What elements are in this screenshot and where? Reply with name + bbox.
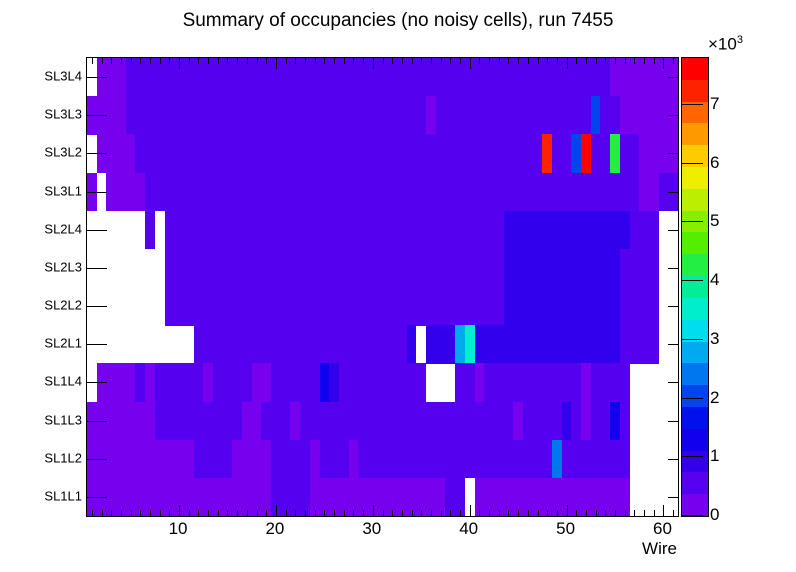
heatmap-cell bbox=[261, 402, 290, 441]
heatmap-cell bbox=[523, 402, 552, 441]
colorbar-ticks bbox=[681, 57, 709, 515]
x-tick-minor bbox=[625, 510, 626, 516]
x-tick-top bbox=[557, 58, 558, 64]
heatmap-cell bbox=[165, 363, 175, 402]
x-tick-minor bbox=[247, 510, 248, 516]
x-tick-top bbox=[654, 58, 655, 64]
heatmap-cell bbox=[223, 173, 233, 212]
x-tick-top bbox=[305, 58, 306, 64]
y-tick bbox=[87, 115, 107, 116]
colorbar-tick-label: 0 bbox=[710, 505, 719, 525]
x-tick-top bbox=[644, 58, 645, 64]
heatmap-cell bbox=[252, 363, 271, 402]
x-tick-top bbox=[102, 58, 103, 64]
x-tick-top bbox=[431, 58, 432, 64]
colorbar-tick bbox=[681, 163, 703, 164]
x-tick-minor bbox=[227, 510, 228, 516]
x-tick-minor bbox=[353, 510, 354, 516]
heatmap-cell bbox=[397, 363, 426, 402]
colorbar-tick bbox=[681, 280, 703, 281]
heatmap-cell bbox=[213, 363, 252, 402]
x-tick-top bbox=[92, 58, 93, 64]
x-tick-minor bbox=[605, 510, 606, 516]
x-tick-top bbox=[470, 58, 471, 69]
heatmap-cell bbox=[426, 325, 436, 364]
heatmap-cell bbox=[552, 402, 562, 441]
heatmap-cell bbox=[620, 402, 630, 441]
x-tick-minor bbox=[344, 510, 345, 516]
x-tick-minor bbox=[508, 510, 509, 516]
x-axis-title: Wire bbox=[642, 539, 677, 559]
y-tick bbox=[87, 77, 107, 78]
y-axis-label-sl1l3: SL1L3 bbox=[44, 412, 82, 427]
heatmap-cell bbox=[165, 249, 368, 288]
heatmap-cell bbox=[562, 440, 591, 479]
x-tick-minor bbox=[237, 510, 238, 516]
colorbar-exponent-base: ×10 bbox=[708, 35, 737, 54]
x-tick-top bbox=[169, 58, 170, 64]
y-axis-label-sl3l1: SL3L1 bbox=[44, 183, 82, 198]
x-tick-top bbox=[150, 58, 151, 64]
heatmap-cell bbox=[571, 134, 581, 173]
x-tick-top bbox=[663, 58, 664, 69]
x-tick-minor bbox=[208, 510, 209, 516]
x-tick-minor bbox=[189, 510, 190, 516]
heatmap-cell bbox=[426, 478, 445, 516]
x-tick-minor bbox=[383, 510, 384, 516]
x-tick-minor bbox=[431, 510, 432, 516]
x-tick-top bbox=[353, 58, 354, 64]
heatmap-cell bbox=[155, 363, 165, 402]
x-tick-minor bbox=[111, 510, 112, 516]
colorbar-tick bbox=[681, 456, 703, 457]
x-tick-minor bbox=[121, 510, 122, 516]
heatmap-cell bbox=[135, 173, 145, 212]
y-axis-label-sl3l3: SL3L3 bbox=[44, 107, 82, 122]
x-tick-top bbox=[131, 58, 132, 64]
x-tick-minor bbox=[538, 510, 539, 516]
colorbar-exponent: ×103 bbox=[708, 34, 743, 55]
x-tick-top bbox=[615, 58, 616, 64]
y-tick bbox=[87, 344, 107, 345]
heatmap-cell bbox=[455, 363, 474, 402]
x-tick-minor bbox=[421, 510, 422, 516]
x-tick-top bbox=[528, 58, 529, 64]
y-axis-label-sl1l1: SL1L1 bbox=[44, 488, 82, 503]
y-tick-right bbox=[668, 344, 678, 345]
heatmap-cell bbox=[106, 173, 135, 212]
x-tick-top bbox=[208, 58, 209, 64]
y-tick bbox=[87, 268, 107, 269]
heatmap-cells bbox=[87, 58, 678, 516]
heatmap-cell bbox=[368, 325, 407, 364]
heatmap-cell bbox=[523, 440, 552, 479]
colorbar-tick bbox=[681, 515, 703, 516]
heatmap-cell bbox=[426, 96, 436, 135]
x-tick-top bbox=[673, 58, 674, 64]
x-tick-minor bbox=[441, 510, 442, 516]
heatmap-cell bbox=[271, 440, 310, 479]
heatmap-cell bbox=[445, 440, 474, 479]
heatmap-cell bbox=[407, 325, 417, 364]
heatmap-cell bbox=[620, 249, 649, 288]
heatmap-cell bbox=[455, 325, 465, 364]
x-tick-top bbox=[315, 58, 316, 64]
x-tick-top bbox=[257, 58, 258, 64]
x-tick-top bbox=[605, 58, 606, 64]
x-tick-minor bbox=[654, 510, 655, 516]
heatmap-cell bbox=[271, 363, 319, 402]
x-tick-minor bbox=[402, 510, 403, 516]
y-axis-label-sl3l2: SL3L2 bbox=[44, 145, 82, 160]
heatmap-cell bbox=[591, 96, 601, 135]
heatmap-cell bbox=[552, 440, 562, 479]
x-tick-top bbox=[625, 58, 626, 64]
x-tick-top bbox=[383, 58, 384, 64]
x-tick-top bbox=[276, 58, 277, 69]
x-axis-tick-label: 30 bbox=[362, 519, 381, 539]
y-tick-right bbox=[668, 77, 678, 78]
heatmap-cell bbox=[184, 363, 203, 402]
x-tick-minor bbox=[257, 510, 258, 516]
heatmap-cell bbox=[184, 440, 194, 479]
y-tick-right bbox=[668, 459, 678, 460]
heatmap-cell bbox=[620, 325, 639, 364]
heatmap-cell bbox=[194, 325, 368, 364]
x-tick-minor bbox=[644, 510, 645, 516]
x-axis-tick-label: 40 bbox=[459, 519, 478, 539]
heatmap-cell bbox=[639, 173, 658, 212]
heatmap-cell bbox=[174, 363, 184, 402]
colorbar-tick bbox=[681, 221, 703, 222]
colorbar-tick-label: 7 bbox=[710, 94, 719, 114]
x-tick-minor bbox=[673, 510, 674, 516]
y-tick-right bbox=[668, 421, 678, 422]
heatmap-cell bbox=[600, 96, 619, 135]
colorbar-tick bbox=[681, 398, 703, 399]
heatmap-cell bbox=[213, 440, 232, 479]
x-tick-minor bbox=[102, 510, 103, 516]
heatmap-cell bbox=[203, 363, 213, 402]
heatmap-cell bbox=[610, 134, 620, 173]
colorbar-tick-label: 1 bbox=[710, 446, 719, 466]
heatmap-cell bbox=[165, 211, 194, 250]
x-tick-top bbox=[179, 58, 180, 69]
x-tick-minor bbox=[392, 510, 393, 516]
heatmap-cell bbox=[290, 402, 300, 441]
x-tick-top bbox=[392, 58, 393, 64]
x-tick-minor bbox=[547, 510, 548, 516]
heatmap-cell bbox=[145, 363, 155, 402]
colorbar-tick bbox=[681, 339, 703, 340]
heatmap-cell bbox=[620, 287, 639, 326]
x-tick-top bbox=[189, 58, 190, 64]
heatmap-cell bbox=[135, 134, 542, 173]
x-tick-minor bbox=[169, 510, 170, 516]
y-axis-labels: SL3L4SL3L3SL3L2SL3L1SL2L4SL2L3SL2L2SL2L1… bbox=[0, 57, 82, 515]
heatmap-cell bbox=[426, 440, 445, 479]
heatmap-cell bbox=[232, 440, 242, 479]
x-tick-top bbox=[111, 58, 112, 64]
heatmap-cell bbox=[523, 363, 552, 402]
x-tick-top bbox=[237, 58, 238, 64]
heatmap-cell bbox=[649, 249, 659, 288]
heatmap-cell bbox=[194, 440, 213, 479]
x-tick-major bbox=[179, 505, 180, 516]
heatmap-cell bbox=[184, 402, 242, 441]
heatmap-cell bbox=[174, 402, 184, 441]
colorbar-tick-label: 3 bbox=[710, 329, 719, 349]
x-tick-top bbox=[344, 58, 345, 64]
x-tick-minor bbox=[450, 510, 451, 516]
x-tick-minor bbox=[198, 510, 199, 516]
x-tick-top bbox=[266, 58, 267, 64]
y-tick-right bbox=[668, 115, 678, 116]
heatmap-cell bbox=[475, 325, 514, 364]
y-axis-label-sl2l1: SL2L1 bbox=[44, 336, 82, 351]
y-tick-right bbox=[668, 497, 678, 498]
heatmap-cell bbox=[484, 363, 523, 402]
x-tick-top bbox=[460, 58, 461, 64]
x-axis-tick-label: 20 bbox=[265, 519, 284, 539]
x-tick-minor bbox=[218, 510, 219, 516]
x-tick-top bbox=[140, 58, 141, 64]
y-tick bbox=[87, 421, 107, 422]
y-tick bbox=[87, 192, 107, 193]
heatmap-cell bbox=[562, 402, 572, 441]
heatmap-cell bbox=[436, 96, 591, 135]
x-tick-minor bbox=[315, 510, 316, 516]
colorbar-exponent-power: 3 bbox=[737, 34, 743, 46]
y-tick-right bbox=[668, 192, 678, 193]
colorbar-tick-label: 4 bbox=[710, 270, 719, 290]
heatmap-cell bbox=[552, 363, 581, 402]
x-tick-top bbox=[441, 58, 442, 64]
x-tick-minor bbox=[576, 510, 577, 516]
y-tick bbox=[87, 497, 107, 498]
heatmap-cell bbox=[416, 402, 435, 441]
x-tick-minor bbox=[557, 510, 558, 516]
y-tick bbox=[87, 153, 107, 154]
heatmap-cell bbox=[475, 440, 504, 479]
heatmap-cell bbox=[135, 363, 145, 402]
x-tick-minor bbox=[499, 510, 500, 516]
heatmap-cell bbox=[242, 402, 261, 441]
x-tick-minor bbox=[150, 510, 151, 516]
heatmap-cell bbox=[329, 363, 339, 402]
x-tick-top bbox=[479, 58, 480, 64]
y-tick-right bbox=[668, 268, 678, 269]
x-tick-top bbox=[586, 58, 587, 64]
heatmap-cell bbox=[387, 363, 397, 402]
y-axis-label-sl3l4: SL3L4 bbox=[44, 69, 82, 84]
x-tick-top bbox=[596, 58, 597, 64]
x-tick-minor bbox=[363, 510, 364, 516]
x-tick-minor bbox=[324, 510, 325, 516]
x-tick-top bbox=[121, 58, 122, 64]
heatmap-cell bbox=[504, 249, 620, 288]
x-tick-minor bbox=[140, 510, 141, 516]
heatmap-cell bbox=[436, 325, 455, 364]
x-tick-top bbox=[567, 58, 568, 69]
x-tick-top bbox=[324, 58, 325, 64]
colorbar-tick-label: 5 bbox=[710, 211, 719, 231]
x-tick-major bbox=[567, 505, 568, 516]
colorbar-tick-label: 2 bbox=[710, 388, 719, 408]
heatmap-cell bbox=[242, 440, 271, 479]
x-tick-top bbox=[576, 58, 577, 64]
x-tick-minor bbox=[528, 510, 529, 516]
heatmap-cell bbox=[571, 402, 581, 441]
x-tick-top bbox=[373, 58, 374, 69]
y-tick-right bbox=[668, 382, 678, 383]
x-tick-top bbox=[421, 58, 422, 64]
y-tick-right bbox=[668, 306, 678, 307]
x-tick-minor bbox=[489, 510, 490, 516]
heatmap-cell bbox=[639, 325, 658, 364]
x-tick-top bbox=[160, 58, 161, 64]
heatmap-cell bbox=[368, 287, 504, 326]
colorbar-tick bbox=[681, 104, 703, 105]
x-tick-top bbox=[634, 58, 635, 64]
heatmap-cell bbox=[165, 402, 175, 441]
x-tick-minor bbox=[286, 510, 287, 516]
heatmap-cell bbox=[513, 402, 523, 441]
x-tick-top bbox=[218, 58, 219, 64]
heatmap-cell bbox=[630, 211, 659, 250]
heatmap-cell bbox=[155, 402, 165, 441]
heatmap-cell bbox=[358, 440, 426, 479]
y-tick bbox=[87, 230, 107, 231]
x-tick-minor bbox=[305, 510, 306, 516]
x-tick-top bbox=[198, 58, 199, 64]
x-tick-minor bbox=[460, 510, 461, 516]
heatmap-cell bbox=[620, 134, 639, 173]
x-axis-tick-label: 10 bbox=[169, 519, 188, 539]
heatmap-cell bbox=[145, 211, 155, 250]
colorbar-tick-label: 6 bbox=[710, 153, 719, 173]
x-tick-minor bbox=[334, 510, 335, 516]
heatmap-cell bbox=[513, 325, 620, 364]
x-tick-minor bbox=[160, 510, 161, 516]
heatmap-cell bbox=[232, 173, 639, 212]
heatmap-cell bbox=[504, 440, 523, 479]
y-axis-label-sl2l2: SL2L2 bbox=[44, 298, 82, 313]
heatmap-cell bbox=[591, 134, 610, 173]
heatmap-cell bbox=[581, 402, 591, 441]
y-axis-label-sl2l4: SL2L4 bbox=[44, 221, 82, 236]
heatmap-cell bbox=[320, 440, 349, 479]
heatmap-cell bbox=[610, 402, 620, 441]
x-tick-top bbox=[489, 58, 490, 64]
heatmap-cell bbox=[542, 134, 552, 173]
y-tick-right bbox=[668, 230, 678, 231]
x-tick-top bbox=[547, 58, 548, 64]
heatmap-cell bbox=[300, 402, 416, 441]
heatmap-cell bbox=[339, 363, 387, 402]
x-tick-top bbox=[450, 58, 451, 64]
x-tick-top bbox=[286, 58, 287, 64]
x-tick-top bbox=[227, 58, 228, 64]
heatmap-cell bbox=[349, 440, 359, 479]
x-tick-minor bbox=[596, 510, 597, 516]
root-canvas: Summary of occupancies (no noisy cells),… bbox=[0, 0, 796, 572]
x-tick-top bbox=[295, 58, 296, 64]
heatmap-cell bbox=[310, 440, 320, 479]
x-tick-minor bbox=[634, 510, 635, 516]
x-tick-top bbox=[538, 58, 539, 64]
y-tick bbox=[87, 459, 107, 460]
y-tick bbox=[87, 306, 107, 307]
heatmap-cell bbox=[368, 211, 504, 250]
heatmap-cell bbox=[368, 249, 504, 288]
x-tick-top bbox=[363, 58, 364, 64]
x-axis-tick-label: 60 bbox=[653, 519, 672, 539]
y-axis-label-sl1l2: SL1L2 bbox=[44, 450, 82, 465]
colorbar-tick-labels: 01234567 bbox=[710, 57, 770, 515]
heatmap-cell bbox=[165, 287, 368, 326]
heatmap-cell bbox=[194, 211, 368, 250]
heatmap-cell bbox=[126, 402, 155, 441]
x-tick-top bbox=[499, 58, 500, 64]
x-tick-top bbox=[334, 58, 335, 64]
x-tick-minor bbox=[586, 510, 587, 516]
x-tick-top bbox=[402, 58, 403, 64]
heatmap-cell bbox=[320, 363, 330, 402]
heatmap-cell bbox=[436, 402, 514, 441]
heatmap-cell bbox=[591, 440, 601, 479]
heatmap-cell bbox=[552, 134, 571, 173]
x-tick-minor bbox=[295, 510, 296, 516]
heatmap-cell bbox=[591, 402, 610, 441]
heatmap-cell bbox=[591, 363, 630, 402]
x-tick-major bbox=[470, 505, 471, 516]
x-tick-minor bbox=[479, 510, 480, 516]
x-tick-top bbox=[412, 58, 413, 64]
heatmap-cell bbox=[145, 173, 223, 212]
y-axis-label-sl2l3: SL2L3 bbox=[44, 259, 82, 274]
x-tick-top bbox=[247, 58, 248, 64]
heatmap-cell bbox=[600, 440, 629, 479]
heatmap-cell bbox=[116, 402, 126, 441]
heatmap-cell bbox=[581, 363, 591, 402]
heatmap-cell bbox=[465, 325, 475, 364]
heatmap-cell bbox=[581, 134, 591, 173]
x-tick-top bbox=[518, 58, 519, 64]
x-tick-minor bbox=[518, 510, 519, 516]
x-tick-top bbox=[508, 58, 509, 64]
x-tick-major bbox=[373, 505, 374, 516]
x-tick-minor bbox=[412, 510, 413, 516]
x-tick-major bbox=[276, 505, 277, 516]
x-tick-minor bbox=[615, 510, 616, 516]
x-tick-minor bbox=[92, 510, 93, 516]
x-axis-tick-label: 50 bbox=[556, 519, 575, 539]
x-tick-major bbox=[663, 505, 664, 516]
x-tick-minor bbox=[266, 510, 267, 516]
heatmap-cell bbox=[504, 287, 620, 326]
heatmap-cell bbox=[504, 211, 630, 250]
plot-frame bbox=[86, 57, 679, 517]
page-title: Summary of occupancies (no noisy cells),… bbox=[0, 10, 796, 32]
heatmap-cell bbox=[639, 287, 658, 326]
y-axis-label-sl1l4: SL1L4 bbox=[44, 374, 82, 389]
heatmap-cell bbox=[475, 363, 485, 402]
heatmap-cell bbox=[126, 96, 426, 135]
y-tick bbox=[87, 382, 107, 383]
y-tick-right bbox=[668, 153, 678, 154]
x-tick-minor bbox=[131, 510, 132, 516]
